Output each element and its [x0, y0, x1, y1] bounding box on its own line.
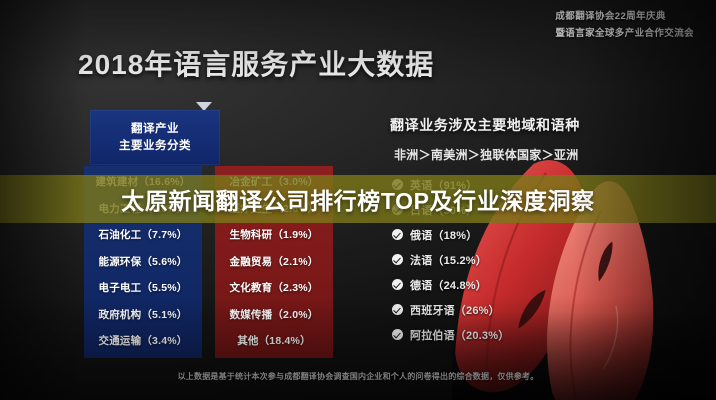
event-headline-line-2: 暨语言家全球多产业合作交流会 — [555, 25, 694, 42]
list-item: 数媒传播（2.0%） — [230, 302, 319, 329]
list-item: 金融贸易（2.1%） — [230, 249, 319, 276]
region-ranking-text: 非洲＞南美洲＞独联体国家＞亚洲 — [394, 146, 579, 163]
list-item-label: 西班牙语（26%） — [410, 302, 500, 318]
page-title: 2018年语言服务产业大数据 — [78, 43, 434, 83]
language-panel-title: 翻译业务涉及主要地域和语种 — [390, 115, 580, 135]
list-item: 交通运输（3.4%） — [99, 328, 188, 355]
list-item: 俄语（18%） — [392, 222, 582, 247]
check-circle-icon — [392, 304, 403, 315]
list-item-label: 阿拉伯语（20.3%） — [410, 327, 509, 343]
category-panel-header: 翻译产业 主要业务分类 — [90, 110, 220, 165]
overlay-banner-title: 太原新闻翻译公司排行榜TOP及行业深度洞察 — [121, 182, 594, 216]
list-item: 其他（18.4%） — [237, 328, 311, 355]
list-item: 文化教育（2.3%） — [230, 275, 319, 302]
list-item-label: 法语（15.2%） — [410, 252, 487, 268]
event-headline: 成都翻译协会22周年庆典 暨语言家全球多产业合作交流会 — [555, 8, 694, 42]
check-circle-icon — [392, 329, 403, 340]
event-headline-line-1: 成都翻译协会22周年庆典 — [555, 8, 694, 25]
list-item-label: 俄语（18%） — [410, 227, 477, 243]
poster-canvas: 成都翻译协会22周年庆典 暨语言家全球多产业合作交流会 2018年语言服务产业大… — [0, 0, 716, 400]
check-circle-icon — [392, 229, 403, 240]
list-item: 能源环保（5.6%） — [99, 249, 188, 276]
check-circle-icon — [392, 254, 403, 265]
list-item: 西班牙语（26%） — [392, 297, 582, 322]
category-panel-header-line-1: 翻译产业 — [131, 121, 179, 138]
footnote-text: 以上数据是基于统计本次参与成都翻译协会调查国内企业和个人的问卷得出的综合数据，仅… — [0, 371, 716, 382]
list-item: 石油化工（7.7%） — [99, 222, 188, 249]
category-panel-header-line-2: 主要业务分类 — [119, 138, 191, 155]
overlay-banner: 太原新闻翻译公司排行榜TOP及行业深度洞察 — [0, 175, 716, 223]
list-item: 政府机构（5.1%） — [99, 302, 188, 329]
list-item: 电子电工（5.5%） — [99, 275, 188, 302]
check-circle-icon — [392, 279, 403, 290]
list-item-label: 德语（24.8%） — [410, 277, 487, 293]
list-item: 阿拉伯语（20.3%） — [392, 322, 582, 347]
list-item: 德语（24.8%） — [392, 272, 582, 297]
list-item: 法语（15.2%） — [392, 247, 582, 272]
list-item: 生物科研（1.9%） — [230, 222, 319, 249]
